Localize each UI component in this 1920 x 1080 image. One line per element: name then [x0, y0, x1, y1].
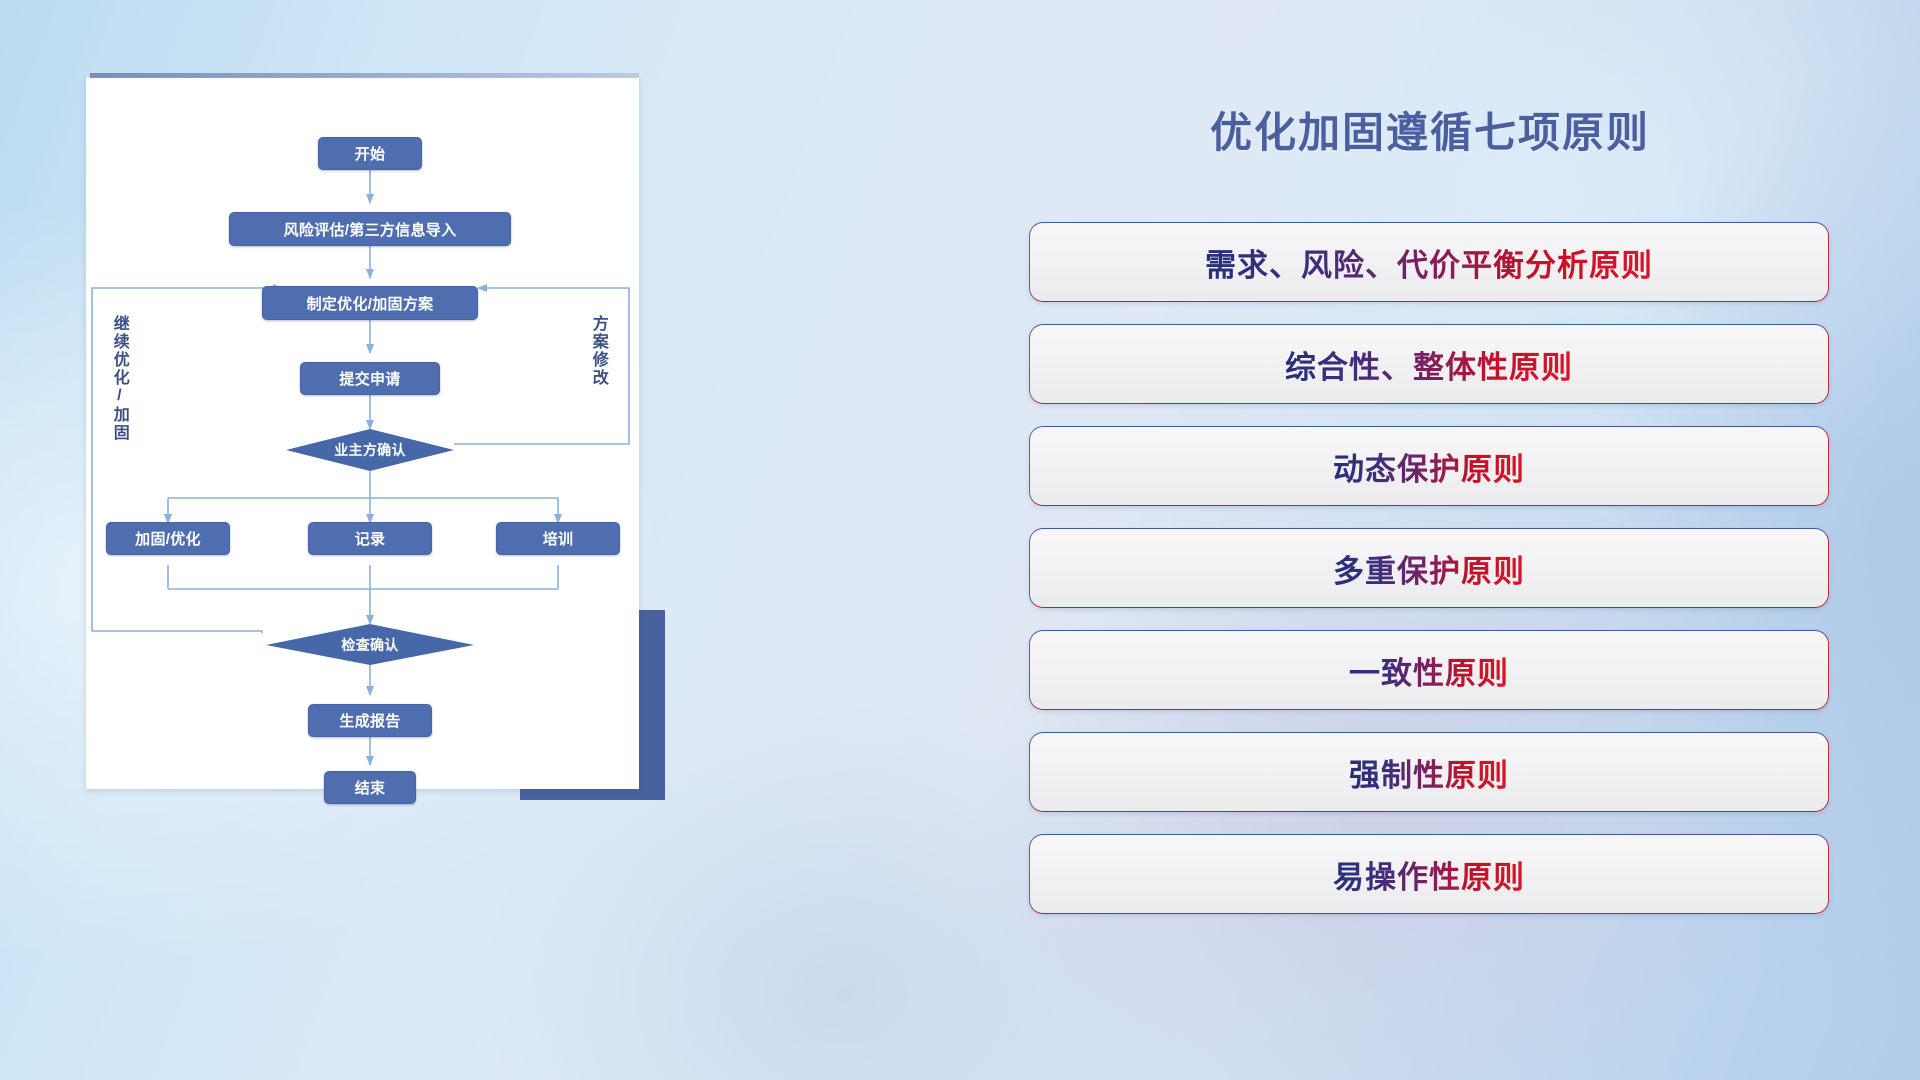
flow-node-check-confirm[interactable]: 检查确认 — [266, 624, 474, 666]
flow-node-record[interactable]: 记录 — [308, 522, 432, 555]
principle-card[interactable]: 一致性原则 — [1029, 630, 1829, 710]
flow-node-label: 生成报告 — [339, 710, 400, 731]
flow-edge-label-continue-optimize: 继续优化/加固 — [110, 315, 127, 455]
flow-node-plan[interactable]: 制定优化/加固方案 — [262, 286, 478, 320]
principle-card-label: 易操作性原则 — [1333, 852, 1525, 897]
flow-node-label: 风险评估/第三方信息导入 — [284, 219, 457, 240]
flow-edge-label-plan-revision: 方案修改 — [589, 315, 606, 430]
principle-card-label: 需求、风险、代价平衡分析原则 — [1205, 240, 1653, 285]
principle-card[interactable]: 多重保护原则 — [1029, 528, 1829, 608]
principle-card[interactable]: 综合性、整体性原则 — [1029, 324, 1829, 404]
principle-card[interactable]: 易操作性原则 — [1029, 834, 1829, 914]
flow-node-label: 检查确认 — [341, 635, 398, 655]
principles-card-list: 需求、风险、代价平衡分析原则 综合性、整体性原则 动态保护原则 多重保护原则 一… — [1029, 222, 1829, 936]
principle-card[interactable]: 动态保护原则 — [1029, 426, 1829, 506]
flow-node-label: 提交申请 — [339, 368, 400, 389]
principle-card-label: 强制性原则 — [1349, 750, 1509, 795]
flow-node-risk-assessment[interactable]: 风险评估/第三方信息导入 — [229, 212, 511, 246]
principle-card[interactable]: 强制性原则 — [1029, 732, 1829, 812]
flow-node-submit-application[interactable]: 提交申请 — [300, 362, 440, 395]
flow-node-label: 结束 — [355, 777, 386, 798]
principle-card-label: 动态保护原则 — [1333, 444, 1525, 489]
principles-panel: 优化加固遵循七项原则 需求、风险、代价平衡分析原则 综合性、整体性原则 动态保护… — [1010, 77, 1850, 1007]
flow-node-label: 开始 — [355, 143, 386, 164]
flow-node-end[interactable]: 结束 — [324, 771, 416, 804]
flow-node-owner-confirm[interactable]: 业主方确认 — [286, 429, 454, 471]
flow-node-label: 记录 — [355, 528, 386, 549]
flow-node-label: 业主方确认 — [334, 440, 406, 460]
principle-card-label: 综合性、整体性原则 — [1285, 342, 1573, 387]
flowchart-panel: 开始 风险评估/第三方信息导入 制定优化/加固方案 提交申请 业主方确认 加固/… — [86, 77, 639, 789]
principle-card[interactable]: 需求、风险、代价平衡分析原则 — [1029, 222, 1829, 302]
principle-card-label: 多重保护原则 — [1333, 546, 1525, 591]
flow-node-generate-report[interactable]: 生成报告 — [308, 704, 432, 737]
flow-node-label: 培训 — [543, 528, 574, 549]
flow-node-training[interactable]: 培训 — [496, 522, 620, 555]
flow-node-harden-optimize[interactable]: 加固/优化 — [106, 522, 230, 555]
flow-node-label: 加固/优化 — [135, 528, 201, 549]
flow-node-start[interactable]: 开始 — [318, 137, 422, 170]
flow-node-label: 制定优化/加固方案 — [307, 293, 434, 314]
panel-title: 优化加固遵循七项原则 — [1010, 99, 1850, 160]
principle-card-label: 一致性原则 — [1349, 648, 1509, 693]
